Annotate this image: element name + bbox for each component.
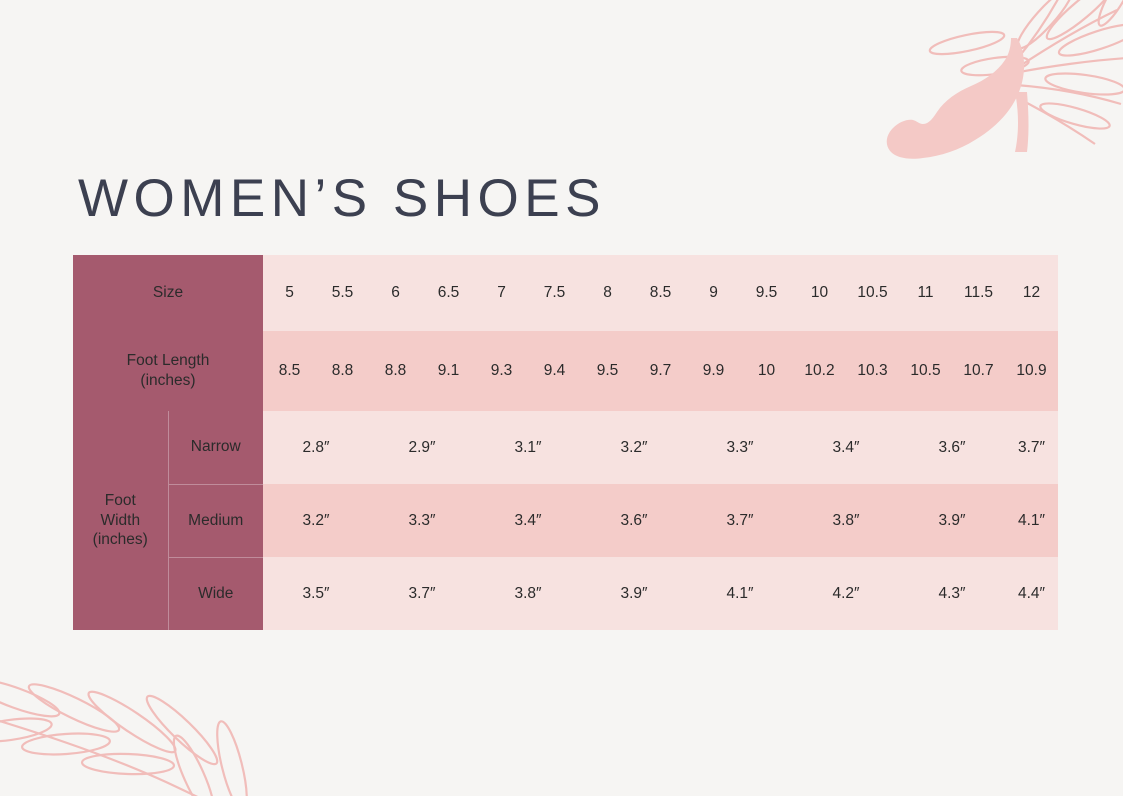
cell-width-narrow: 3.4″ xyxy=(793,411,899,484)
row-label-foot-length-line1: Foot Length xyxy=(73,351,263,371)
cell-width-medium: 3.6″ xyxy=(581,484,687,557)
row-label-size: Size xyxy=(73,255,263,331)
cell-foot-length: 9.7 xyxy=(634,331,687,411)
cell-size: 10.5 xyxy=(846,255,899,331)
table-row-size: Size 5 5.5 6 6.5 7 7.5 8 8.5 9 9.5 10 10… xyxy=(73,255,1058,331)
cell-width-medium: 3.9″ xyxy=(899,484,1005,557)
row-label-foot-width-line1: Foot xyxy=(73,491,168,511)
cell-foot-length: 10.5 xyxy=(899,331,952,411)
cell-foot-length: 8.5 xyxy=(263,331,316,411)
cell-foot-length: 9.9 xyxy=(687,331,740,411)
table-row-foot-length: Foot Length (inches) 8.5 8.8 8.8 9.1 9.3… xyxy=(73,331,1058,411)
table-row-narrow: Foot Width (inches) Narrow 2.8″ 2.9″ 3.1… xyxy=(73,411,1058,484)
cell-size: 9.5 xyxy=(740,255,793,331)
cell-width-narrow: 3.7″ xyxy=(1005,411,1058,484)
row-label-foot-length: Foot Length (inches) xyxy=(73,331,263,411)
high-heel-shoe-illustration xyxy=(849,0,1123,198)
high-heel-shoe-icon xyxy=(887,38,1029,159)
table-row-wide: Wide 3.5″ 3.7″ 3.8″ 3.9″ 4.1″ 4.2″ 4.3″ … xyxy=(73,557,1058,630)
cell-width-medium: 3.3″ xyxy=(369,484,475,557)
row-label-foot-width-line2: Width xyxy=(73,511,168,531)
cell-foot-length: 9.5 xyxy=(581,331,634,411)
cell-size: 11.5 xyxy=(952,255,1005,331)
cell-width-medium: 4.1″ xyxy=(1005,484,1058,557)
cell-size: 8 xyxy=(581,255,634,331)
cell-width-medium: 3.4″ xyxy=(475,484,581,557)
cell-size: 7.5 xyxy=(528,255,581,331)
cell-foot-length: 8.8 xyxy=(369,331,422,411)
cell-foot-length: 8.8 xyxy=(316,331,369,411)
cell-width-narrow: 2.8″ xyxy=(263,411,369,484)
row-label-foot-width-line3: (inches) xyxy=(73,530,168,550)
cell-foot-length: 9.1 xyxy=(422,331,475,411)
size-chart-table: Size 5 5.5 6 6.5 7 7.5 8 8.5 9 9.5 10 10… xyxy=(73,255,1058,630)
cell-foot-length: 9.4 xyxy=(528,331,581,411)
cell-foot-length: 10.7 xyxy=(952,331,1005,411)
cell-size: 7 xyxy=(475,255,528,331)
row-label-foot-length-line2: (inches) xyxy=(73,371,263,391)
row-label-medium: Medium xyxy=(168,484,263,557)
cell-width-wide: 3.7″ xyxy=(369,557,475,630)
cell-size: 10 xyxy=(793,255,846,331)
cell-width-wide: 4.2″ xyxy=(793,557,899,630)
cell-width-medium: 3.7″ xyxy=(687,484,793,557)
row-label-foot-width: Foot Width (inches) xyxy=(73,411,168,630)
leaf-branch-illustration xyxy=(0,626,300,796)
cell-width-narrow: 3.3″ xyxy=(687,411,793,484)
cell-foot-length: 10.9 xyxy=(1005,331,1058,411)
size-chart-page: WOMEN’S SHOES Size 5 5.5 6 6.5 7 7.5 8 8… xyxy=(0,0,1123,796)
cell-foot-length: 9.3 xyxy=(475,331,528,411)
cell-foot-length: 10.3 xyxy=(846,331,899,411)
cell-size: 6 xyxy=(369,255,422,331)
cell-size: 8.5 xyxy=(634,255,687,331)
row-label-narrow: Narrow xyxy=(168,411,263,484)
cell-width-medium: 3.8″ xyxy=(793,484,899,557)
cell-width-wide: 4.1″ xyxy=(687,557,793,630)
cell-size: 11 xyxy=(899,255,952,331)
cell-width-wide: 3.8″ xyxy=(475,557,581,630)
cell-width-wide: 3.5″ xyxy=(263,557,369,630)
cell-width-wide: 4.4″ xyxy=(1005,557,1058,630)
leaf-branch-icon xyxy=(928,0,1123,144)
page-title: WOMEN’S SHOES xyxy=(78,168,606,229)
table-row-medium: Medium 3.2″ 3.3″ 3.4″ 3.6″ 3.7″ 3.8″ 3.9… xyxy=(73,484,1058,557)
cell-width-narrow: 3.6″ xyxy=(899,411,1005,484)
cell-width-wide: 4.3″ xyxy=(899,557,1005,630)
cell-foot-length: 10 xyxy=(740,331,793,411)
cell-size: 5.5 xyxy=(316,255,369,331)
row-label-wide: Wide xyxy=(168,557,263,630)
cell-width-wide: 3.9″ xyxy=(581,557,687,630)
cell-foot-length: 10.2 xyxy=(793,331,846,411)
cell-width-narrow: 2.9″ xyxy=(369,411,475,484)
cell-width-narrow: 3.1″ xyxy=(475,411,581,484)
cell-size: 9 xyxy=(687,255,740,331)
cell-width-medium: 3.2″ xyxy=(263,484,369,557)
cell-size: 6.5 xyxy=(422,255,475,331)
cell-width-narrow: 3.2″ xyxy=(581,411,687,484)
cell-size: 12 xyxy=(1005,255,1058,331)
cell-size: 5 xyxy=(263,255,316,331)
